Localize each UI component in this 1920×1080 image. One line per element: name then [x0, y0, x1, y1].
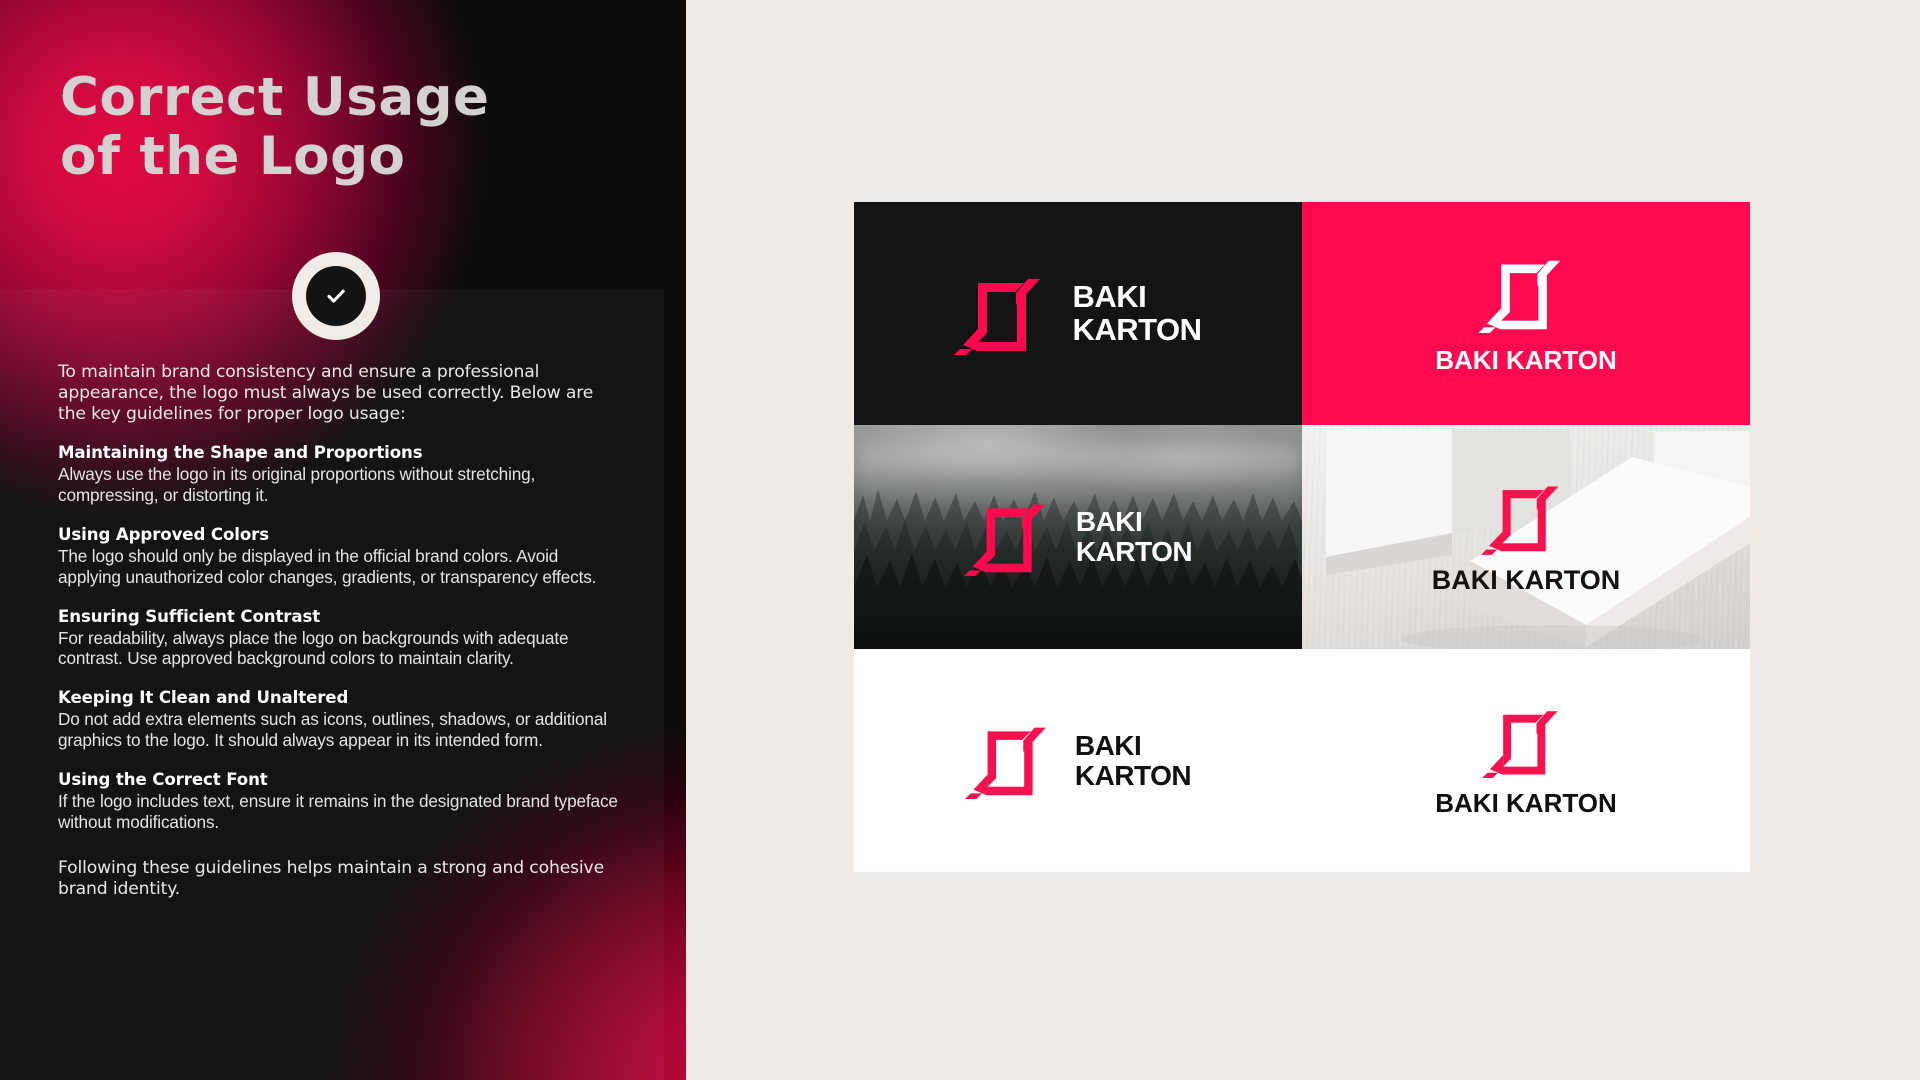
guideline-section: Using Approved Colors The logo should on…: [58, 525, 618, 588]
logo-lockup-vertical: BAKI KARTON: [1432, 481, 1621, 594]
logo-cell-boxes-photo: BAKI KARTON: [1302, 425, 1750, 649]
wordmark: BAKI KARTON: [1435, 790, 1617, 816]
baki-karton-mark-icon: [965, 722, 1059, 799]
check-icon: [306, 266, 366, 326]
baki-karton-mark-icon: [954, 273, 1054, 355]
section-heading: Using Approved Colors: [58, 525, 618, 545]
section-heading: Using the Correct Font: [58, 770, 618, 790]
logo-cell-white-horizontal: BAKI KARTON: [854, 649, 1302, 872]
logo-cell-dark-horizontal: BAKI KARTON: [854, 202, 1302, 425]
section-heading: Keeping It Clean and Unaltered: [58, 688, 618, 708]
left-info-panel: Correct Usage of the Logo To maintain br…: [0, 0, 686, 1080]
baki-karton-mark-icon: [1481, 481, 1571, 555]
wordmark: BAKI KARTON: [1072, 281, 1201, 347]
logo-lockup-horizontal: BAKI KARTON: [964, 499, 1192, 576]
wordmark: BAKI KARTON: [1432, 567, 1621, 594]
logo-cell-forest-photo: BAKI KARTON: [854, 425, 1302, 649]
guideline-section: Maintaining the Shape and Proportions Al…: [58, 443, 618, 506]
logo-cell-white-vertical: BAKI KARTON: [1302, 649, 1750, 872]
guideline-section: Using the Correct Font If the logo inclu…: [58, 770, 618, 833]
section-body: For readability, always place the logo o…: [58, 628, 618, 670]
intro-paragraph: To maintain brand consistency and ensure…: [58, 362, 618, 424]
wordmark: BAKI KARTON: [1075, 731, 1191, 790]
section-body: The logo should only be displayed in the…: [58, 546, 618, 588]
section-body: If the logo includes text, ensure it rem…: [58, 791, 618, 833]
section-body: Always use the logo in its original prop…: [58, 464, 618, 506]
baki-karton-mark-icon: [1482, 706, 1570, 778]
page-title: Correct Usage of the Logo: [60, 68, 660, 187]
guideline-section: Ensuring Sufficient Contrast For readabi…: [58, 607, 618, 670]
wordmark: BAKI KARTON: [1076, 507, 1192, 566]
logo-lockup-horizontal: BAKI KARTON: [954, 273, 1201, 355]
baki-karton-mark-icon: [964, 499, 1058, 576]
logo-lockup-vertical: BAKI KARTON: [1435, 706, 1617, 816]
section-heading: Maintaining the Shape and Proportions: [58, 443, 618, 463]
section-heading: Ensuring Sufficient Contrast: [58, 607, 618, 627]
logo-lockup-horizontal: BAKI KARTON: [965, 722, 1191, 799]
logo-usage-grid: BAKI KARTON BAKI KARTON: [854, 202, 1750, 872]
wordmark: BAKI KARTON: [1435, 347, 1617, 373]
guidelines-body: To maintain brand consistency and ensure…: [58, 362, 618, 900]
check-badge: [292, 252, 380, 340]
logo-cell-pink-vertical: BAKI KARTON: [1302, 202, 1750, 425]
closing-paragraph: Following these guidelines helps maintai…: [58, 858, 618, 900]
baki-karton-mark-icon: [1478, 255, 1574, 333]
section-body: Do not add extra elements such as icons,…: [58, 709, 618, 751]
guideline-section: Keeping It Clean and Unaltered Do not ad…: [58, 688, 618, 751]
logo-lockup-vertical: BAKI KARTON: [1435, 255, 1617, 373]
